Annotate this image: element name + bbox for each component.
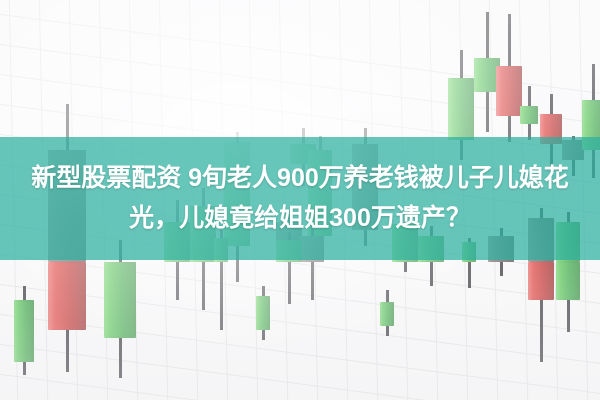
candlestick-body xyxy=(300,236,324,262)
candlestick-body xyxy=(14,300,34,362)
candlestick-body xyxy=(462,242,476,262)
banner-image: 新型股票配资 9旬老人900万养老钱被儿子儿媳花 光，儿媳竟给姐姐300万遗产？ xyxy=(0,0,600,400)
candlestick-body xyxy=(488,236,514,262)
headline-line-2: 光，儿媳竟给姐姐300万遗产？ xyxy=(0,198,600,238)
candlestick-body xyxy=(418,236,444,262)
candlestick-body xyxy=(276,240,302,262)
candlestick-body xyxy=(528,262,554,300)
headline-line-1: 新型股票配资 9旬老人900万养老钱被儿子儿媳花 xyxy=(0,158,600,198)
candlestick-body xyxy=(48,262,86,330)
candlestick-body xyxy=(556,262,580,300)
candlestick-body xyxy=(214,238,228,262)
candlestick-body xyxy=(256,296,270,330)
candlestick-body xyxy=(104,262,136,338)
candlestick-body xyxy=(582,100,600,150)
